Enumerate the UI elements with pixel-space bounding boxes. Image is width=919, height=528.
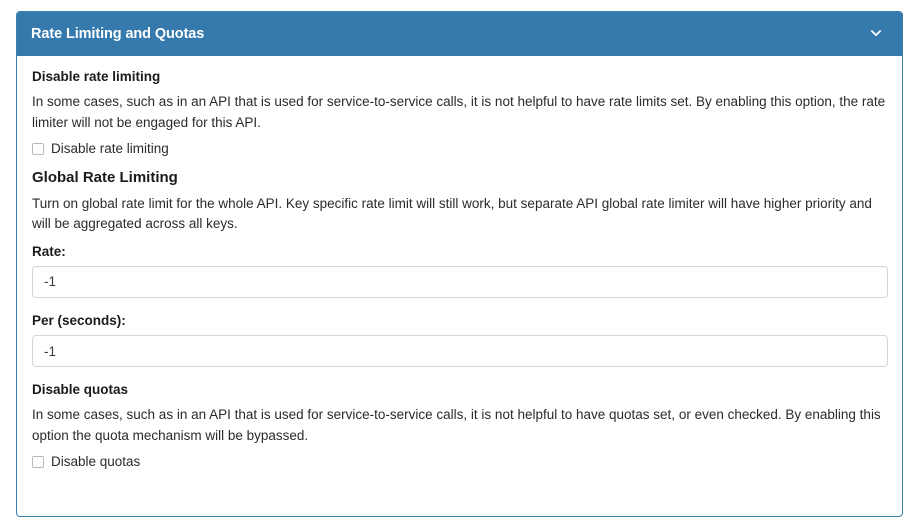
per-seconds-label: Per (seconds):	[32, 313, 887, 329]
disable-rate-limiting-checkbox-row[interactable]: Disable rate limiting	[32, 142, 169, 156]
disable-quotas-checkbox[interactable]	[32, 456, 44, 468]
disable-quotas-checkbox-row[interactable]: Disable quotas	[32, 455, 140, 469]
disable-quotas-description: In some cases, such as in an API that is…	[32, 405, 887, 446]
disable-rate-limiting-heading: Disable rate limiting	[32, 69, 887, 85]
disable-rate-limiting-description: In some cases, such as in an API that is…	[32, 92, 887, 133]
global-rate-limiting-section: Global Rate Limiting Turn on global rate…	[32, 169, 887, 367]
panel-title: Rate Limiting and Quotas	[31, 27, 204, 42]
disable-quotas-section: Disable quotas In some cases, such as in…	[32, 382, 887, 469]
rate-input[interactable]	[32, 266, 888, 298]
disable-quotas-heading: Disable quotas	[32, 382, 887, 398]
panel-body: Disable rate limiting In some cases, suc…	[17, 56, 902, 492]
disable-quotas-checkbox-label: Disable quotas	[51, 455, 140, 469]
global-rate-limiting-description: Turn on global rate limit for the whole …	[32, 194, 887, 235]
disable-rate-limiting-checkbox[interactable]	[32, 143, 44, 155]
disable-rate-limiting-section: Disable rate limiting In some cases, suc…	[32, 69, 887, 156]
disable-rate-limiting-checkbox-label: Disable rate limiting	[51, 142, 169, 156]
global-rate-limiting-heading: Global Rate Limiting	[32, 169, 887, 187]
chevron-down-icon[interactable]	[864, 22, 888, 46]
rate-limiting-and-quotas-panel: Rate Limiting and Quotas Disable rate li…	[16, 11, 903, 517]
panel-header[interactable]: Rate Limiting and Quotas	[17, 12, 902, 56]
per-seconds-input[interactable]	[32, 335, 888, 367]
rate-label: Rate:	[32, 244, 887, 260]
